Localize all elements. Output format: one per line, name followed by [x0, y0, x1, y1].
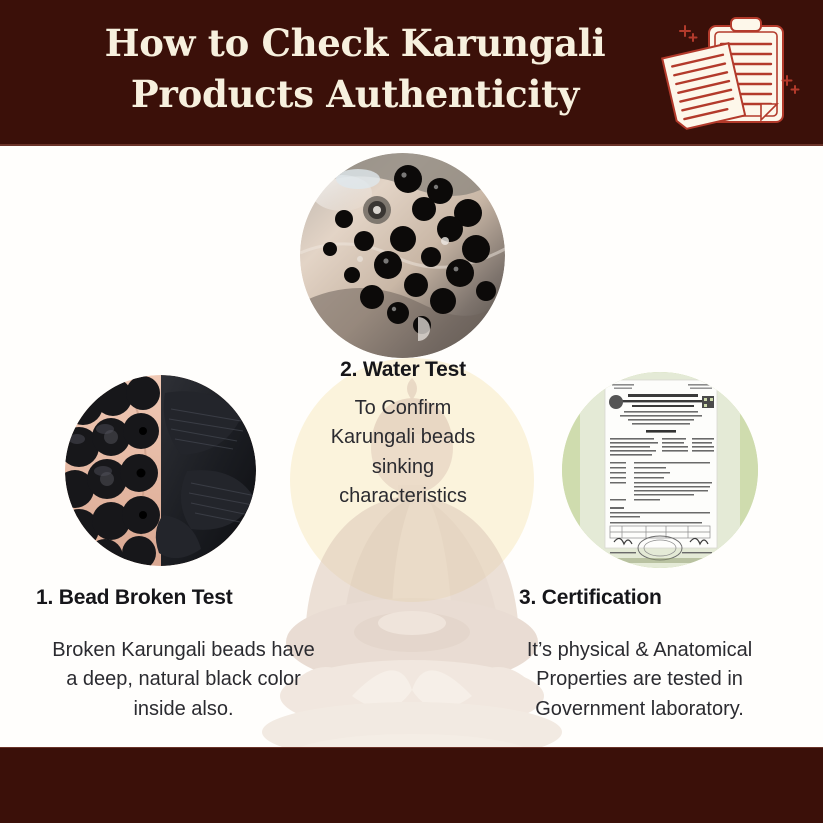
step-bead-broken-test-body: Broken Karungali beads have a deep, natu…: [6, 636, 361, 724]
step-bead-broken-test: 1. Bead Broken Test Broken Karungali bea…: [6, 586, 361, 724]
page-title: How to Check Karungali Products Authenti…: [40, 18, 670, 120]
infographic-poster: How to Check Karungali Products Authenti…: [0, 0, 823, 823]
step-water-test-body: To Confirm Karungali beads sinking chara…: [263, 394, 543, 512]
bead-broken-test-photo: [65, 375, 256, 566]
step-water-test: 2. Water Test To Confirm Karungali beads…: [263, 358, 543, 512]
header-bar: How to Check Karungali Products Authenti…: [0, 0, 823, 146]
footer-bar: [0, 747, 823, 823]
clipboard-document-icon: [651, 14, 801, 134]
step-certification-title: 3. Certification: [462, 586, 817, 610]
water-test-photo: [300, 153, 505, 358]
step-certification: 3. Certification It’s physical & Anatomi…: [462, 586, 817, 724]
step-water-test-title: 2. Water Test: [263, 358, 543, 382]
step-certification-body: It’s physical & Anatomical Properties ar…: [462, 636, 817, 724]
certification-photo: [562, 372, 758, 568]
step-bead-broken-test-title: 1. Bead Broken Test: [6, 586, 361, 610]
